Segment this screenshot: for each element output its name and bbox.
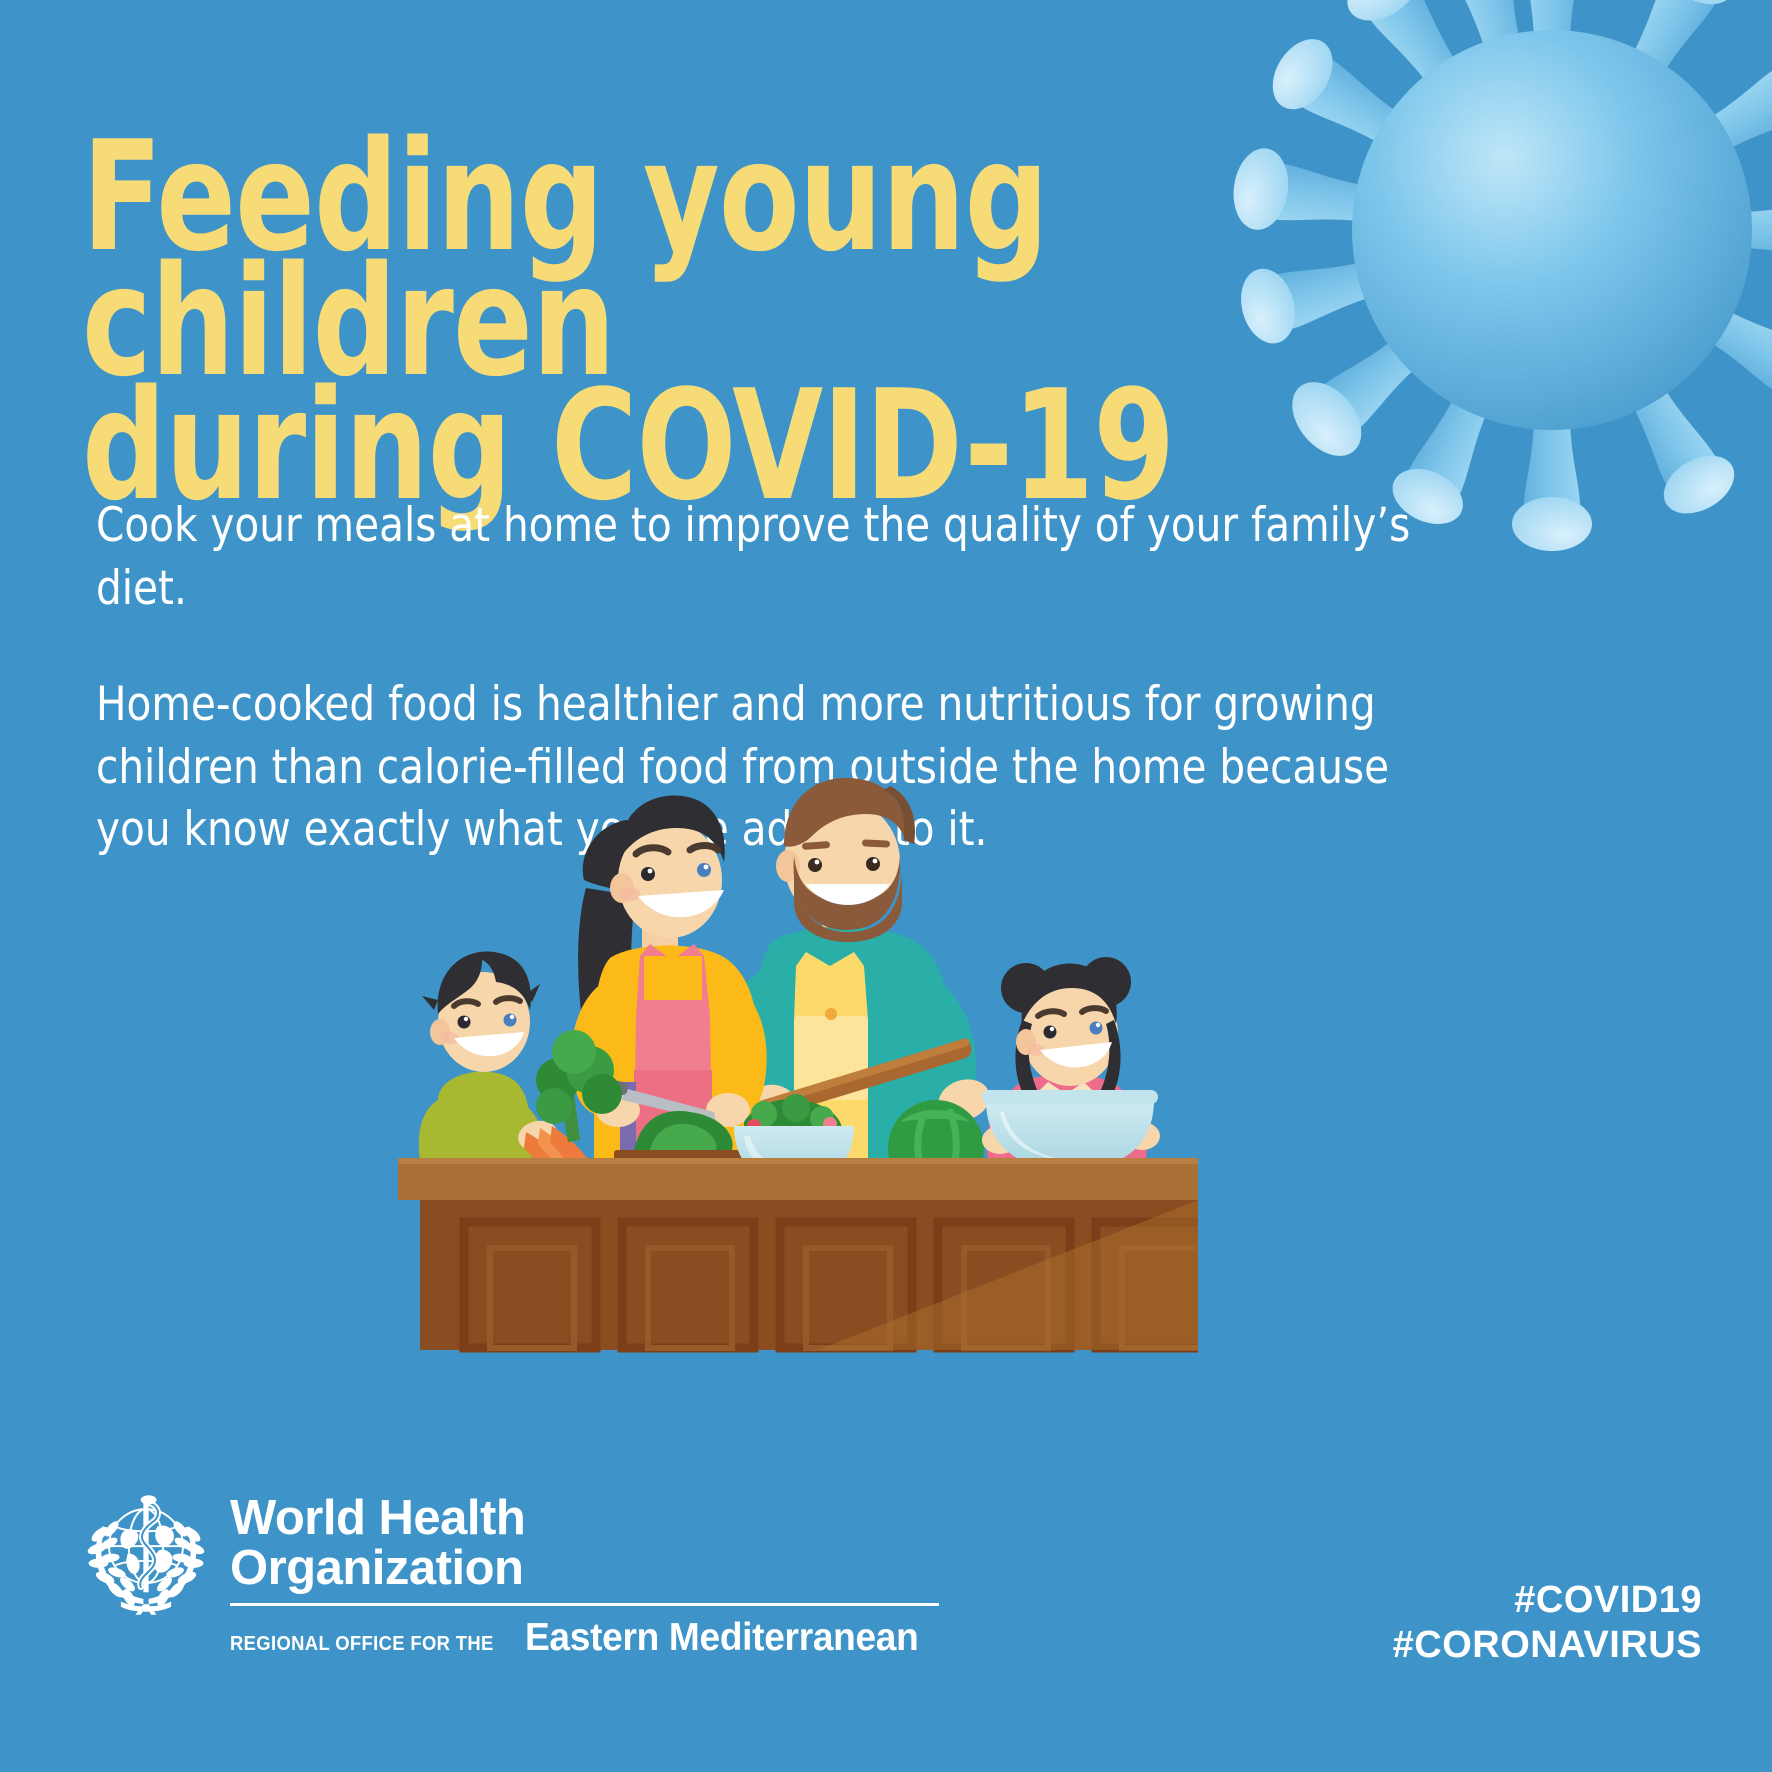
hashtag-covid19: #COVID19 — [1393, 1578, 1702, 1623]
virus-body — [1352, 30, 1752, 430]
who-divider — [230, 1603, 939, 1606]
who-region-name: Eastern Mediterranean — [525, 1616, 918, 1660]
who-name-line2: Organization — [230, 1541, 523, 1595]
infographic-poster: Feeding young children during COVID-19 C… — [0, 0, 1772, 1772]
page-title: Feeding young children during COVID-19 — [82, 135, 1200, 509]
hashtags: #COVID19 #CORONAVIRUS — [1393, 1578, 1702, 1668]
figure-boy — [419, 952, 561, 1160]
who-emblem-icon — [80, 1488, 212, 1620]
who-region-prefix: REGIONAL OFFICE FOR THE — [230, 1633, 494, 1656]
who-name-line1: World Health — [230, 1491, 525, 1545]
who-organization-name: World HealthOrganization — [230, 1494, 939, 1594]
lead-paragraph: Cook your meals at home to improve the q… — [96, 495, 1459, 620]
who-wordmark: World HealthOrganization REGIONAL OFFICE… — [230, 1488, 939, 1660]
family-cooking-illustration — [398, 770, 1198, 1390]
hashtag-coronavirus: #CORONAVIRUS — [1393, 1623, 1702, 1668]
virus-spikes — [1228, 0, 1772, 551]
kitchen-counter — [398, 1158, 1198, 1350]
who-region-line: REGIONAL OFFICE FOR THE Eastern Mediterr… — [230, 1616, 939, 1660]
who-logo: World HealthOrganization REGIONAL OFFICE… — [80, 1488, 939, 1660]
